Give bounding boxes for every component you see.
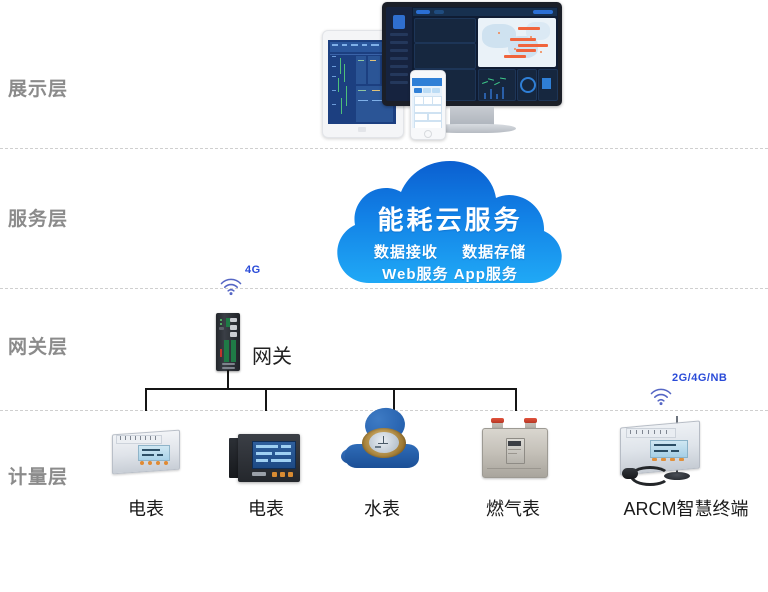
connector-drop-gas-meter [515,388,517,411]
gateway-label: 网关 [252,340,292,369]
desktop-monitor-icon [382,2,562,114]
connector-drop-panel-meter [265,388,267,411]
arcm-smart-terminal-icon [620,424,730,486]
cloud-feature-web-service: Web服务 [382,266,448,283]
device-label-gas-meter: 燃气表 [473,495,553,521]
cloud-subtitle-row-2: Web服务 App服务 [336,263,564,284]
layer-label-presentation: 展示层 [8,74,128,101]
smartphone-device-icon [410,70,444,138]
antenna-plug [622,468,638,479]
monitor-stand [450,106,494,126]
layer-separator-2 [0,288,768,289]
cloud-title: 能耗云服务 [336,200,564,237]
connector-drop-din-meter [145,388,147,411]
connector-bus [145,388,516,390]
gateway-device-icon [216,313,240,371]
layer-label-metering: 计量层 [8,462,128,489]
gas-meter-icon [482,418,548,478]
cloud-service-node: 能耗云服务 数据接收 数据存储 Web服务 App服务 [336,155,564,287]
cloud-feature-data-storage: 数据存储 [462,241,526,262]
cloud-feature-app-service: App服务 [454,266,518,283]
dashboard-map [478,18,556,67]
presentation-devices-group [318,2,598,140]
phone-screen [412,78,442,128]
din-rail-energy-meter-icon [112,432,182,480]
device-label-panel-meter: 电表 [226,495,306,521]
layer-label-gateway: 网关层 [8,332,128,359]
layer-separator-1 [0,148,768,149]
cloud-subtitle-row-1: 数据接收 数据存储 [336,241,564,262]
panel-energy-meter-icon [238,434,304,484]
water-meter-icon [345,408,425,474]
terminal-network-label: 2G/4G/NB [672,372,727,384]
device-label-arcm-terminal: ARCM智慧终端 [596,495,768,521]
device-label-din-meter: 电表 [106,495,186,521]
tablet-home-button [358,127,366,132]
wifi-signal-icon [218,276,244,296]
phone-home-button [424,130,432,138]
architecture-diagram: 展示层 服务层 网关层 计量层 [0,0,768,592]
gateway-network-label: 4G [245,264,261,276]
wifi-signal-icon [648,386,674,406]
device-label-water-meter: 水表 [342,495,422,521]
layer-label-service: 服务层 [8,204,128,231]
connector-gateway-trunk [227,370,229,389]
dashboard-sidebar [386,7,412,101]
cloud-feature-data-receive: 数据接收 [374,241,438,262]
